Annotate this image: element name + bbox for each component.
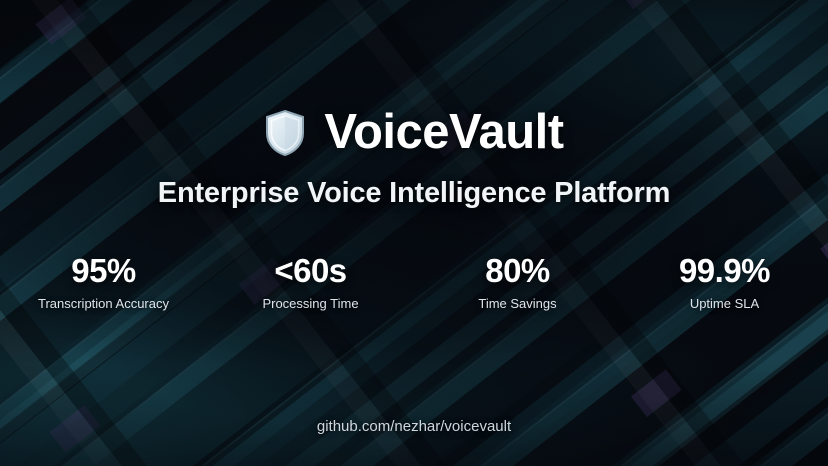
stat-label: Time Savings [414,296,621,311]
page-title: VoiceVault [324,108,563,157]
repository-url[interactable]: github.com/nezhar/voicevault [0,418,828,435]
brand-header: VoiceVault [264,108,563,157]
stat-transcription-accuracy: 95% Transcription Accuracy [0,254,207,311]
stats-row: 95% Transcription Accuracy <60s Processi… [0,254,828,311]
stat-label: Transcription Accuracy [0,296,207,311]
stat-value: <60s [207,254,414,289]
shield-icon [264,109,306,157]
stat-value: 80% [414,254,621,289]
stat-label: Processing Time [207,296,414,311]
stat-uptime-sla: 99.9% Uptime SLA [621,254,828,311]
project-banner: VoiceVault Enterprise Voice Intelligence… [0,0,828,466]
stat-value: 99.9% [621,254,828,289]
banner-content: VoiceVault Enterprise Voice Intelligence… [0,0,828,466]
stat-time-savings: 80% Time Savings [414,254,621,311]
page-subtitle: Enterprise Voice Intelligence Platform [158,177,670,210]
stat-value: 95% [0,254,207,289]
stat-processing-time: <60s Processing Time [207,254,414,311]
stat-label: Uptime SLA [621,296,828,311]
